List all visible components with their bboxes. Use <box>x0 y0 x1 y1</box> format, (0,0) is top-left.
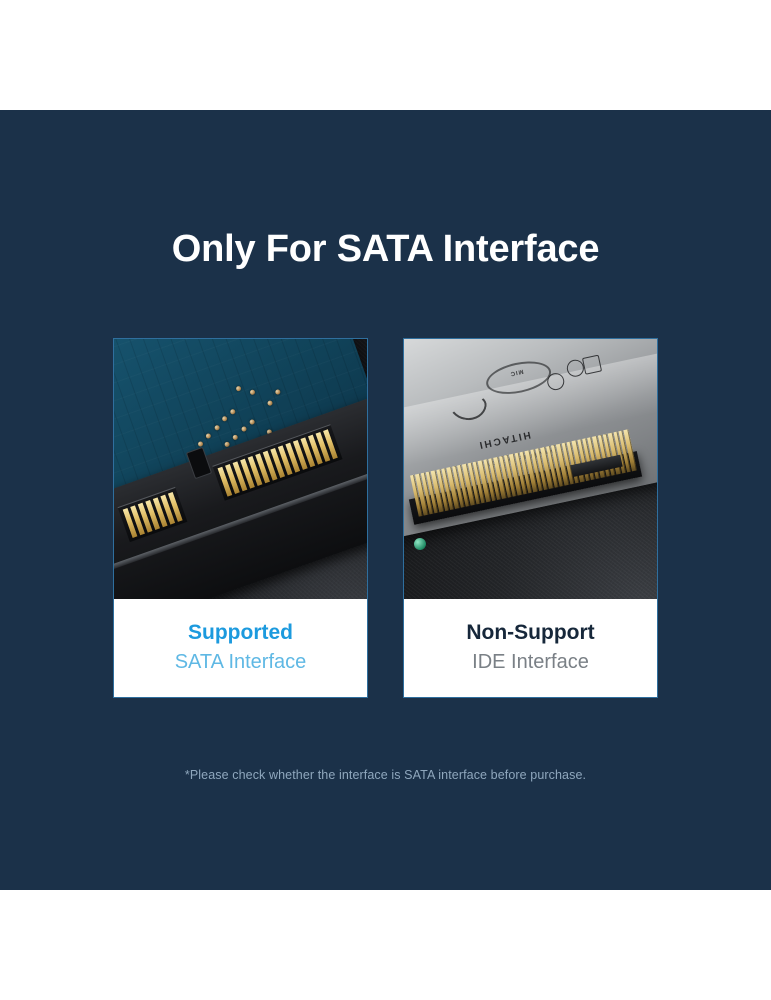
sata-scene <box>114 339 367 601</box>
caption-title: Supported <box>188 620 293 646</box>
photo-ide-connector: MIC HITACHI www.hitachigst.com <box>404 339 657 601</box>
caption-title: Non-Support <box>466 620 594 646</box>
comparison-cards: Supported SATA Interface MIC <box>113 338 658 698</box>
ide-scene: MIC HITACHI www.hitachigst.com <box>404 339 657 601</box>
product-infographic: Only For SATA Interface <box>0 0 771 1000</box>
caption-non-support: Non-Support IDE Interface <box>404 599 657 697</box>
photo-sata-connector <box>114 339 367 601</box>
caption-supported: Supported SATA Interface <box>114 599 367 697</box>
caption-subtitle: SATA Interface <box>175 649 307 676</box>
footnote-text: *Please check whether the interface is S… <box>0 768 771 782</box>
caption-subtitle: IDE Interface <box>472 649 589 676</box>
card-supported[interactable]: Supported SATA Interface <box>113 338 368 698</box>
page-title: Only For SATA Interface <box>0 228 771 271</box>
card-non-support[interactable]: MIC HITACHI www.hitachigst.com <box>403 338 658 698</box>
